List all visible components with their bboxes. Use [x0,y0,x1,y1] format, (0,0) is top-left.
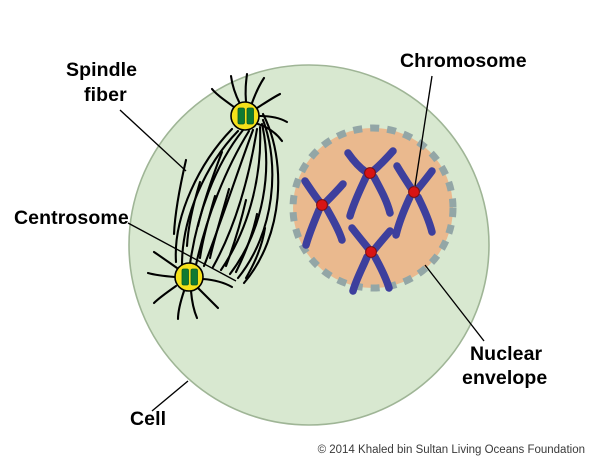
label-spindle-fiber: Spindle fiber [66,59,137,106]
label-chromosome: Chromosome [400,50,527,72]
centrosome-disc [175,263,203,291]
centromere [317,200,328,211]
label-cell: Cell [130,408,166,430]
centromere [365,168,376,179]
centriole-bar [247,108,254,124]
centrosome-disc [231,102,259,130]
leader-line-cell [152,381,188,411]
centrosome-top [231,102,259,130]
label-nuclear-envelope-line2: envelope [462,367,547,389]
centriole-bar [238,108,245,124]
centrosome-bottom [175,263,203,291]
mitosis-diagram: Spindle fiber Centrosome Chromosome Nucl… [0,0,600,464]
copyright-notice: © 2014 Khaled bin Sultan Living Oceans F… [318,444,585,456]
label-cell-line1: Cell [130,408,166,430]
label-spindle-fiber-line1: Spindle [66,59,137,81]
centriole-bar [182,269,189,285]
label-chromosome-line1: Chromosome [400,50,527,72]
centromere [366,247,377,258]
centromere [409,187,420,198]
label-nuclear-envelope: Nuclear envelope [462,343,547,389]
label-centrosome: Centrosome [14,207,129,229]
label-nuclear-envelope-line1: Nuclear [470,343,543,365]
label-centrosome-line1: Centrosome [14,207,129,229]
astral-fiber [246,74,247,102]
label-spindle-fiber-line2: fiber [84,84,127,106]
diagram-canvas: Spindle fiber Centrosome Chromosome Nucl… [0,0,600,464]
centriole-bar [191,269,198,285]
